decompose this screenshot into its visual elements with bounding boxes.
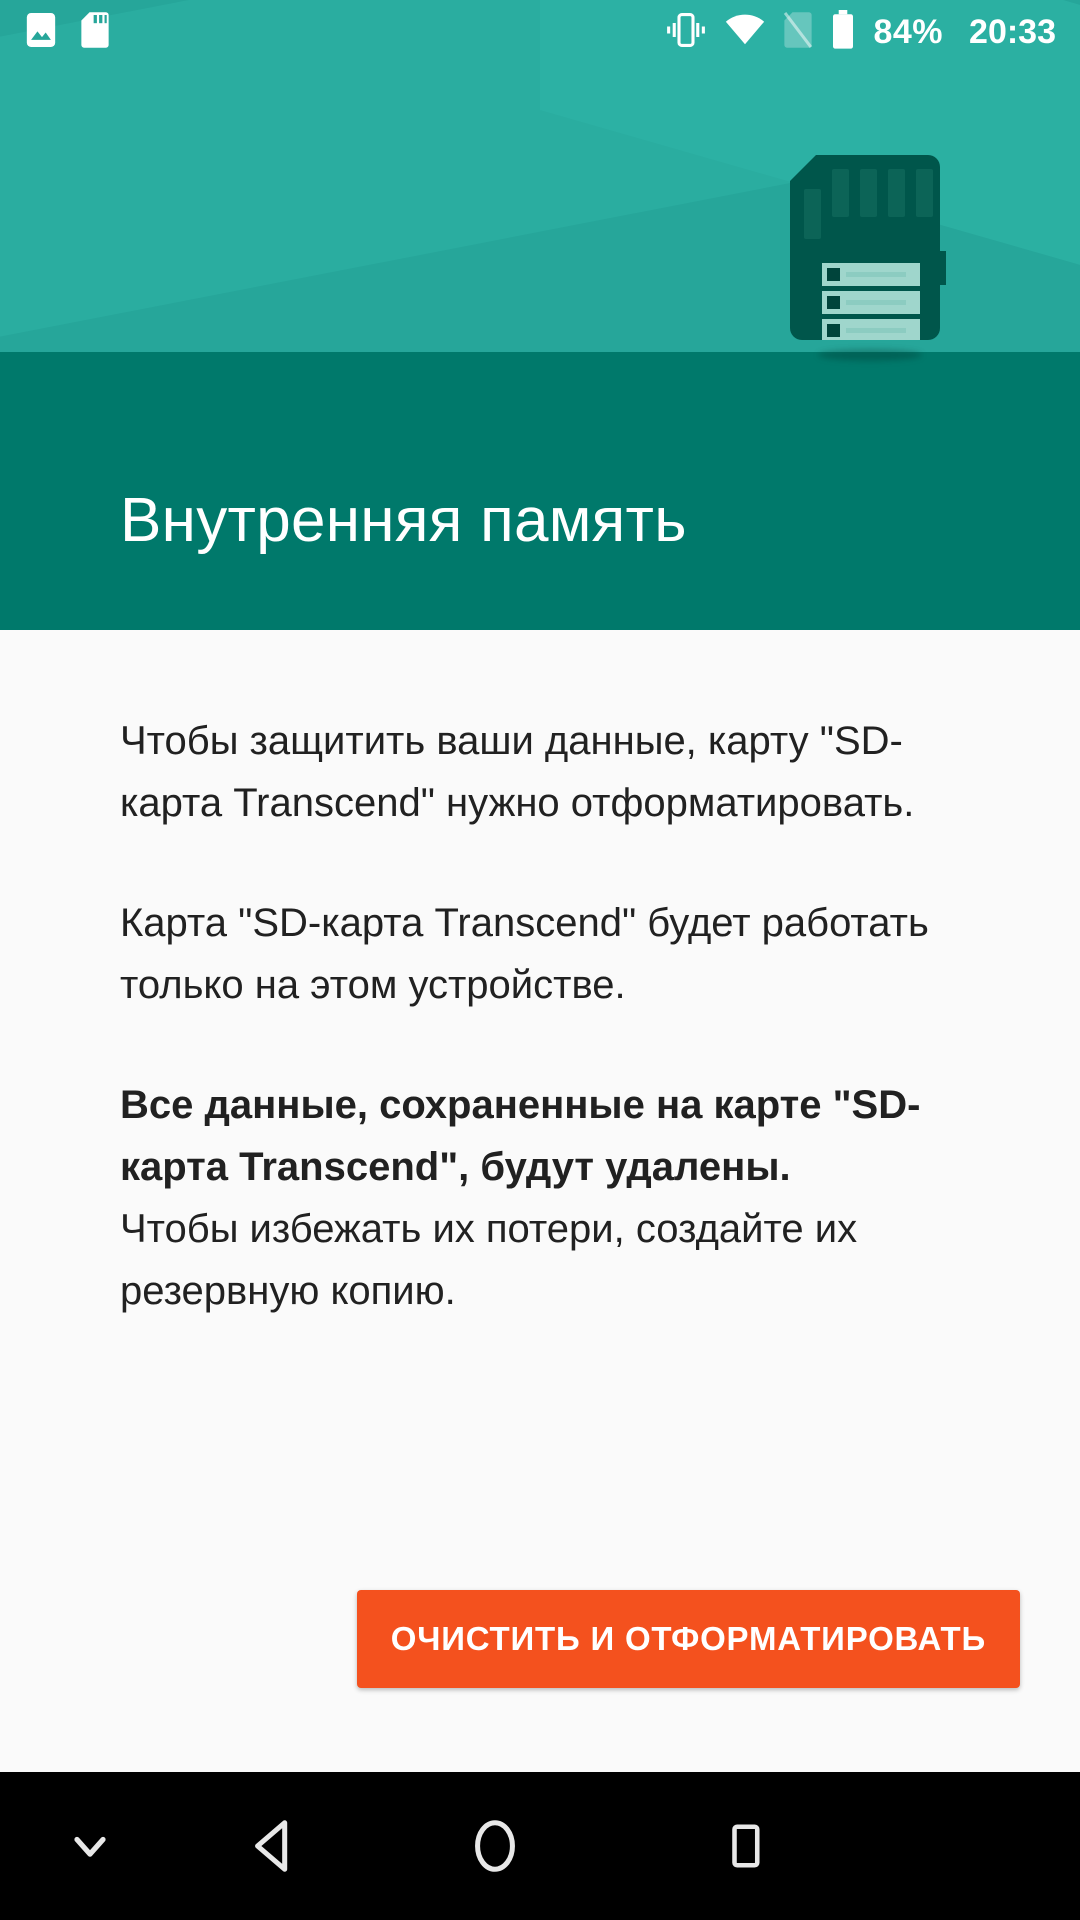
paragraph-warning-bold: Все данные, сохраненные на карте "SD-кар… (120, 1074, 940, 1198)
sd-card-label-line (846, 328, 906, 333)
status-bar-right-icons: 84% 20:33 (665, 10, 1056, 55)
action-button-row: ОЧИСТИТЬ И ОТФОРМАТИРОВАТЬ (0, 1590, 1080, 1688)
erase-and-format-button[interactable]: ОЧИСТИТЬ И ОТФОРМАТИРОВАТЬ (357, 1590, 1020, 1688)
home-icon[interactable] (370, 1815, 620, 1877)
paragraph-device-only: Карта "SD-карта Transcend" будет работат… (120, 892, 940, 1016)
sd-card-icon (80, 10, 110, 55)
status-bar: 84% 20:33 (0, 0, 1080, 64)
clock-label: 20:33 (969, 13, 1056, 52)
image-icon (24, 10, 58, 55)
sd-card-pin (860, 169, 877, 217)
sd-card-label-square (827, 296, 840, 309)
sd-card-label-bar (822, 263, 920, 286)
sd-card-pin (888, 169, 905, 217)
sd-card-pin (832, 169, 849, 217)
paragraph-protect-data: Чтобы защитить ваши данные, карту "SD-ка… (120, 710, 940, 834)
sd-card-label-line (846, 272, 906, 277)
sd-card-illustration (790, 155, 940, 400)
sd-card-label-bar (822, 291, 920, 314)
hide-keyboard-icon[interactable] (0, 1820, 180, 1872)
status-bar-left-icons (24, 10, 110, 55)
battery-percent-label: 84% (873, 13, 943, 52)
recents-icon[interactable] (620, 1818, 870, 1874)
sd-card-label-square (827, 268, 840, 281)
sd-card-pin (916, 169, 933, 217)
back-icon[interactable] (180, 1815, 370, 1877)
page-title: Внутренняя память (120, 485, 687, 556)
battery-icon (831, 10, 855, 55)
sd-card-body (790, 155, 940, 340)
sd-card-label-bar (822, 319, 920, 342)
navigation-bar (0, 1772, 1080, 1920)
sd-card-notch (936, 251, 946, 285)
phone-screen: Внутренняя память (0, 0, 1080, 1920)
no-sim-icon (783, 10, 813, 55)
sd-card-shadow (818, 349, 922, 361)
wifi-icon (725, 13, 765, 52)
sd-card-label-square (827, 324, 840, 337)
sd-card-pin (804, 189, 821, 239)
header-banner: Внутренняя память (0, 0, 1080, 630)
vibrate-icon (665, 11, 707, 54)
paragraph-backup-hint: Чтобы избежать их потери, создайте их ре… (120, 1198, 940, 1322)
sd-card-label-line (846, 300, 906, 305)
